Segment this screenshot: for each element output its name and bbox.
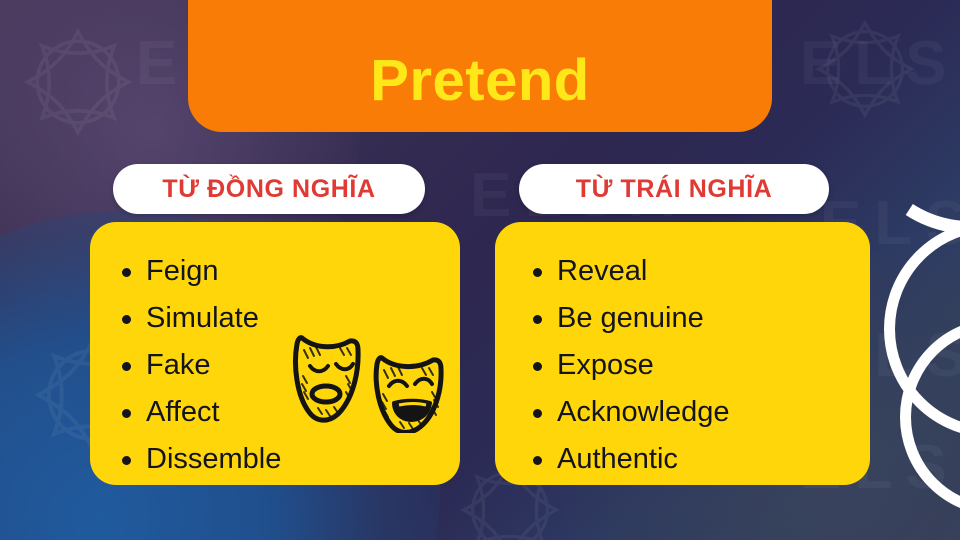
antonyms-label-pill: TỪ TRÁI NGHĨA bbox=[519, 164, 829, 214]
list-item: Dissemble bbox=[146, 436, 460, 483]
list-item: Reveal bbox=[557, 248, 870, 295]
synonyms-label-text: TỪ ĐỒNG NGHĨA bbox=[162, 175, 375, 204]
antonyms-card: Reveal Be genuine Expose Acknowledge Aut… bbox=[495, 222, 870, 485]
list-item: Acknowledge bbox=[557, 389, 870, 436]
list-item: Be genuine bbox=[557, 295, 870, 342]
antonyms-list: Reveal Be genuine Expose Acknowledge Aut… bbox=[495, 222, 870, 483]
theatre-masks-icon bbox=[290, 328, 450, 433]
synonyms-label-pill: TỪ ĐỒNG NGHĨA bbox=[113, 164, 425, 214]
watermark-star-icon bbox=[18, 22, 138, 142]
slide-canvas: ELSA ELSA ELSA ELSA ELSA ELSA Pretend Fe… bbox=[0, 0, 960, 540]
list-item: Feign bbox=[146, 248, 460, 295]
antonyms-label-text: TỪ TRÁI NGHĨA bbox=[576, 175, 773, 204]
list-item: Authentic bbox=[557, 436, 870, 483]
title-banner: Pretend bbox=[188, 0, 772, 132]
page-title: Pretend bbox=[370, 52, 589, 110]
list-item: Expose bbox=[557, 342, 870, 389]
